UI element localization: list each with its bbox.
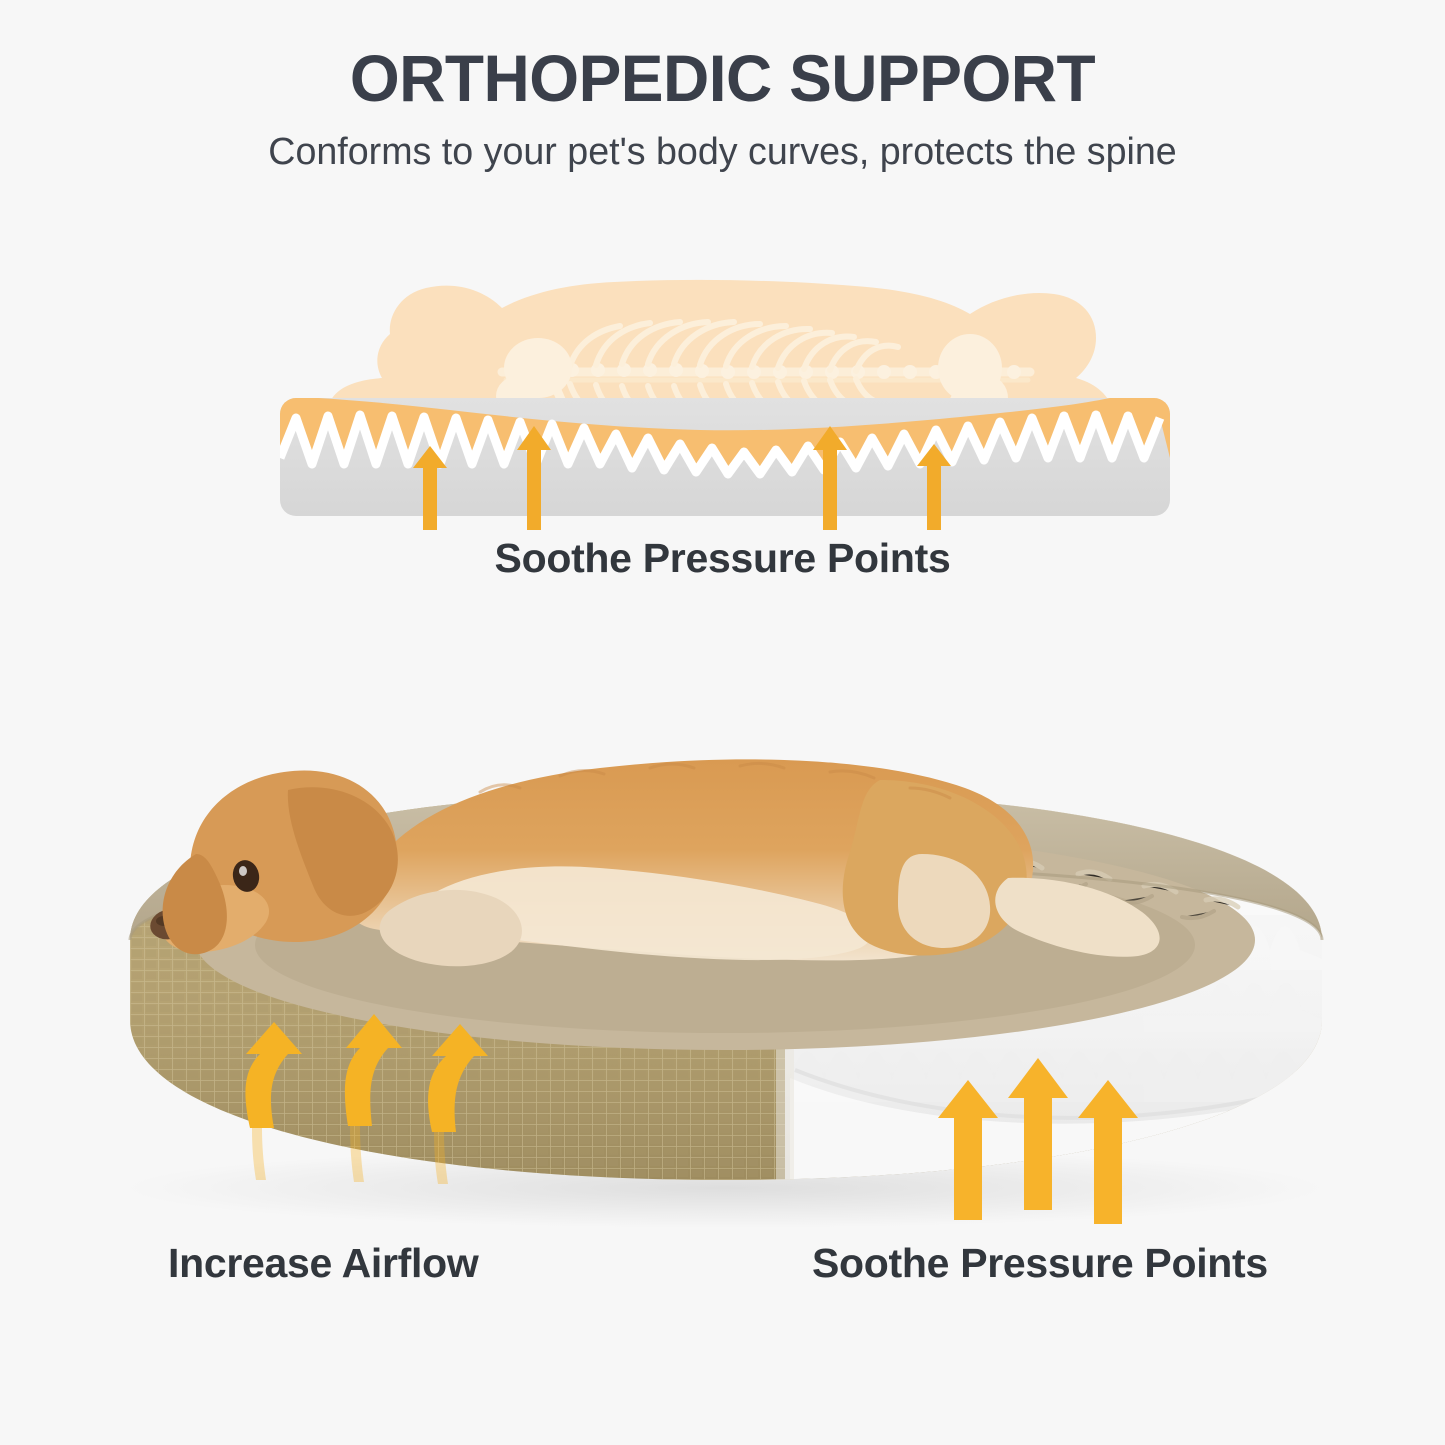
header: ORTHOPEDIC SUPPORT Conforms to your pet'… (0, 44, 1445, 174)
page-title: ORTHOPEDIC SUPPORT (22, 44, 1424, 113)
product-infographic: ORTHOPEDIC SUPPORT Conforms to your pet'… (0, 0, 1445, 1445)
foam-block (270, 388, 1180, 528)
diagram-caption: Soothe Pressure Points (0, 535, 1445, 582)
page-subtitle: Conforms to your pet's body curves, prot… (7, 131, 1438, 175)
bottom-label-row: Increase Airflow Soothe Pressure Points (0, 1240, 1445, 1310)
product-photo (60, 640, 1390, 1240)
label-soothe-pressure-points: Soothe Pressure Points (812, 1240, 1268, 1287)
label-increase-airflow: Increase Airflow (168, 1240, 478, 1287)
pressure-arrow-group-photo (938, 1058, 1138, 1224)
